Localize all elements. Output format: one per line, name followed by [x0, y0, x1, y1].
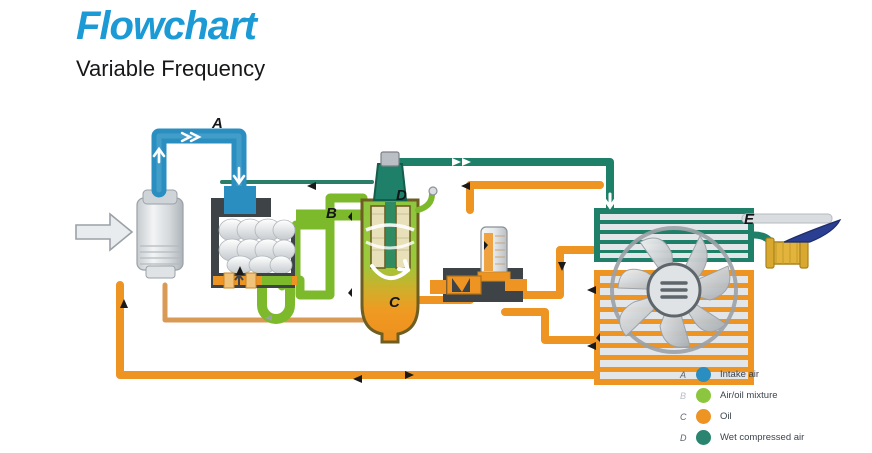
legend-item-oil: C Oil [680, 406, 870, 427]
flow-arrows [120, 158, 600, 383]
legend: A Intake air B Air/oil mixture C Oil D W… [680, 364, 870, 448]
outlet-ball-valve[interactable] [766, 220, 840, 268]
label-E: E [744, 212, 754, 227]
flowchart-page: Flowchart Variable Frequency [0, 0, 872, 453]
legend-letter-d: D [680, 433, 696, 443]
air-cooler [594, 208, 754, 262]
legend-swatch-intake-air [696, 367, 711, 382]
label-A: A [212, 116, 223, 131]
legend-item-air-oil-mixture: B Air/oil mixture [680, 385, 870, 406]
label-B: B [326, 206, 337, 221]
legend-letter-a: A [680, 370, 696, 380]
legend-swatch-wet-compressed-air [696, 430, 711, 445]
legend-label-air-oil-mixture: Air/oil mixture [720, 390, 778, 401]
legend-label-oil: Oil [720, 411, 732, 422]
outlet-air-line [742, 214, 832, 223]
legend-item-wet-compressed-air: D Wet compressed air [680, 427, 870, 448]
cooler-assembly [594, 194, 754, 385]
legend-label-wet-compressed-air: Wet compressed air [720, 432, 804, 443]
legend-letter-b: B [680, 391, 696, 401]
minimum-pressure-valve [430, 280, 446, 294]
legend-label-intake-air: Intake air [720, 369, 759, 380]
legend-item-intake-air: A Intake air [680, 364, 870, 385]
screw-compressor [211, 186, 297, 288]
separator-element [366, 202, 414, 268]
oil-filter-assembly [443, 227, 527, 302]
legend-letter-c: C [680, 412, 696, 422]
screw-rotors [219, 219, 295, 274]
diagram-canvas [0, 90, 872, 390]
flow-diagram: A B C D E [0, 90, 872, 390]
legend-swatch-oil [696, 409, 711, 424]
page-subtitle: Variable Frequency [76, 58, 265, 80]
air-filter [76, 190, 183, 278]
legend-swatch-air-oil-mixture [696, 388, 711, 403]
page-title: Flowchart [76, 6, 256, 46]
label-C: C [389, 295, 400, 310]
label-D: D [396, 188, 407, 203]
oil-filter [478, 227, 510, 281]
